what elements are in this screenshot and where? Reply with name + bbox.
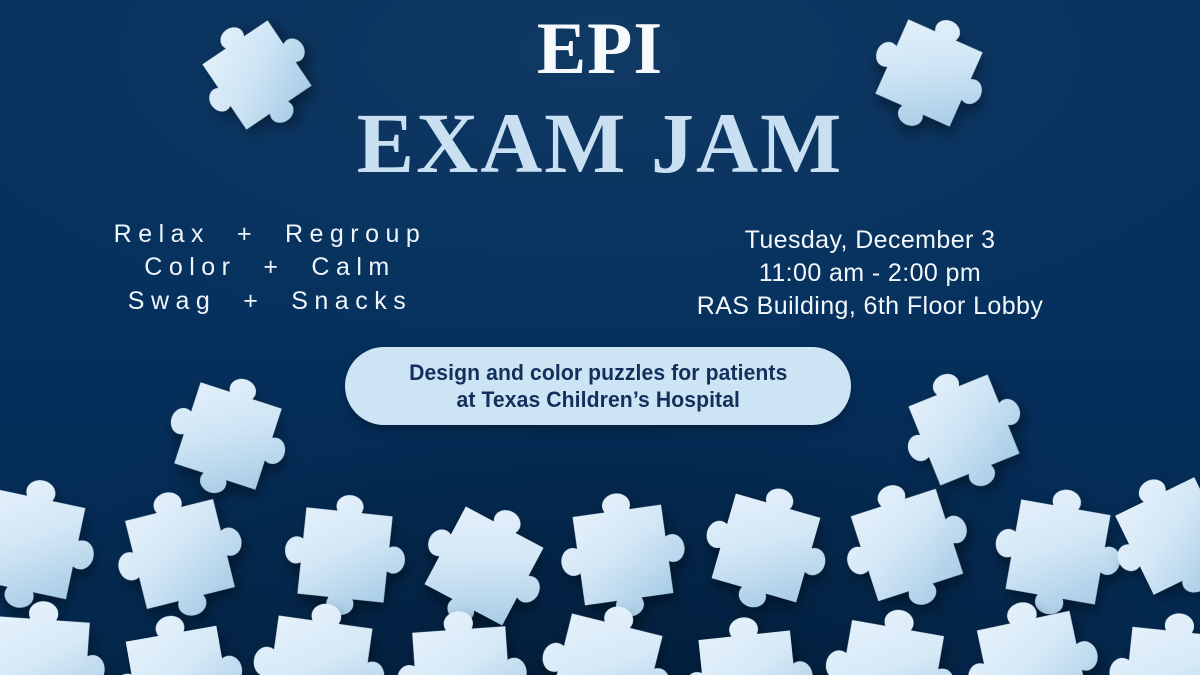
puzzle-piece-bottom-7-icon — [809, 593, 971, 675]
page-title-exam-jam: EXAM JAM — [0, 100, 1200, 186]
tagline-line-3: Swag + Snacks — [50, 285, 490, 318]
headline-block: EPI EXAM JAM — [0, 12, 1200, 186]
puzzle-piece-row-6-icon — [684, 466, 847, 629]
event-details-block: Tuesday, December 3 11:00 am - 2:00 pm R… — [640, 224, 1100, 322]
tagline-line-2: Color + Calm — [50, 251, 490, 284]
page-title-epi: EPI — [0, 12, 1200, 86]
tagline-line-1: Relax + Regroup — [50, 218, 490, 251]
puzzle-piece-bottom-9-icon — [1097, 601, 1200, 675]
puzzle-piece-bottom-4-icon — [387, 601, 536, 675]
event-time: 11:00 am - 2:00 pm — [640, 257, 1100, 290]
event-date: Tuesday, December 3 — [640, 224, 1100, 257]
poster-canvas: EPI EXAM JAM Relax + Regroup Color + Cal… — [0, 0, 1200, 675]
callout-line-2: at Texas Children’s Hospital — [409, 386, 787, 413]
callout-line-1: Design and color puzzles for patients — [409, 359, 787, 386]
tagline-block: Relax + Regroup Color + Calm Swag + Snac… — [50, 218, 490, 318]
callout-text: Design and color puzzles for patients at… — [409, 359, 787, 414]
puzzle-piece-bottom-1-icon — [0, 591, 115, 675]
event-location: RAS Building, 6th Floor Lobby — [640, 290, 1100, 323]
puzzle-piece-bottom-6-icon — [673, 605, 825, 675]
callout-badge: Design and color puzzles for patients at… — [345, 347, 851, 425]
